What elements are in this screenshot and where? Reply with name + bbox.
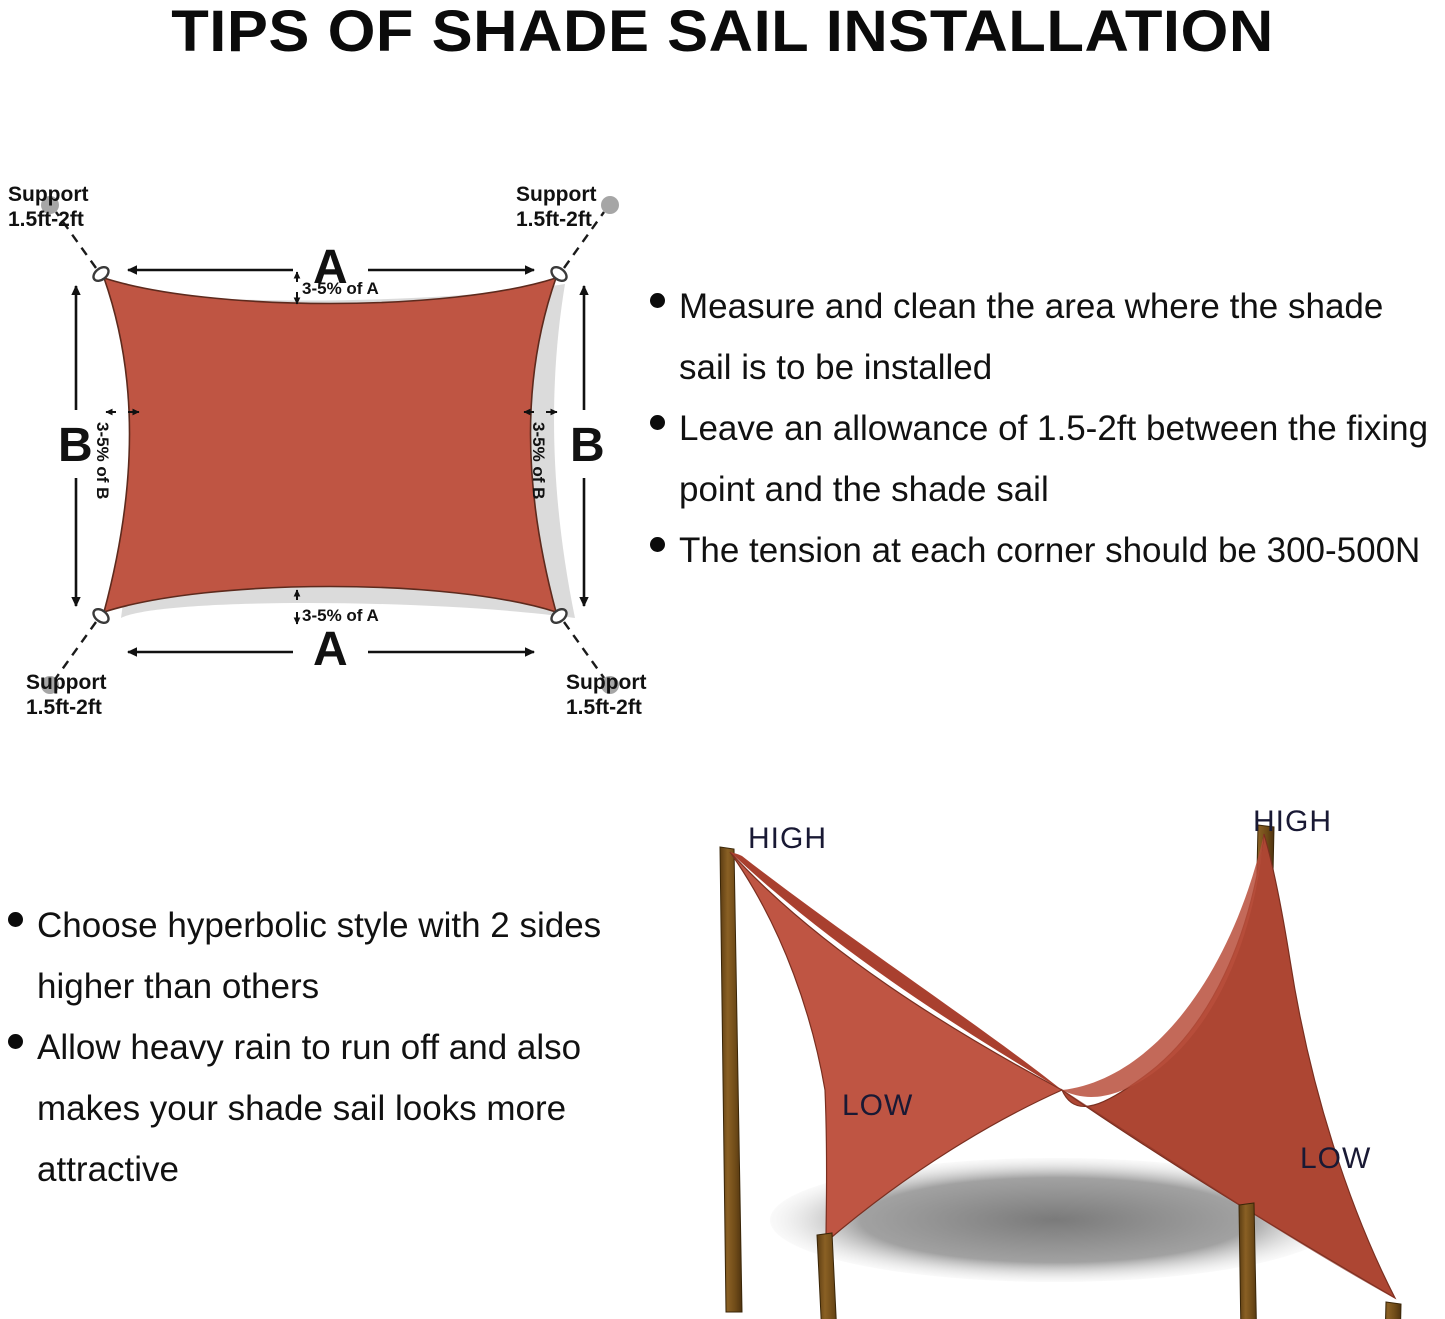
tip-text: Allow heavy rain to run off and also mak… bbox=[37, 1017, 607, 1200]
tips-list-right: Measure and clean the area where the sha… bbox=[650, 276, 1445, 581]
bullet-dot-icon bbox=[650, 415, 665, 430]
bullet-dot-icon bbox=[8, 912, 23, 927]
bullet-dot-icon bbox=[8, 1034, 23, 1049]
infographic-page: TIPS OF SHADE SAIL INSTALLATION bbox=[0, 0, 1445, 1319]
tip-text: Measure and clean the area where the sha… bbox=[679, 276, 1439, 398]
curvature-label-bottom: 3-5% of A bbox=[302, 606, 379, 626]
list-item: The tension at each corner should be 300… bbox=[650, 520, 1445, 581]
bullet-dot-icon bbox=[650, 293, 665, 308]
list-item: Allow heavy rain to run off and also mak… bbox=[8, 1017, 628, 1200]
tip-text: Leave an allowance of 1.5-2ft between th… bbox=[679, 398, 1439, 520]
support-label-top-right: Support 1.5ft-2ft bbox=[516, 182, 616, 232]
list-item: Leave an allowance of 1.5-2ft between th… bbox=[650, 398, 1445, 520]
post-label-low-right: LOW bbox=[1300, 1142, 1371, 1176]
post-far-right-low bbox=[1381, 1302, 1401, 1319]
bullet-dot-icon bbox=[650, 537, 665, 552]
curvature-label-top: 3-5% of A bbox=[302, 279, 379, 299]
curvature-label-right: 3-5% of B bbox=[528, 422, 548, 499]
support-label-bottom-left: Support 1.5ft-2ft bbox=[26, 670, 126, 720]
rect-sail-fabric bbox=[104, 278, 556, 612]
list-item: Measure and clean the area where the sha… bbox=[650, 276, 1445, 398]
hyperbolic-sail-svg bbox=[650, 790, 1445, 1319]
tip-text: Choose hyperbolic style with 2 sides hig… bbox=[37, 895, 607, 1017]
tip-text: The tension at each corner should be 300… bbox=[679, 520, 1439, 581]
post-label-low-left: LOW bbox=[842, 1089, 913, 1123]
support-label-bottom-right: Support 1.5ft-2ft bbox=[566, 670, 666, 720]
post-label-high-left: HIGH bbox=[748, 822, 827, 856]
support-label-top-left: Support 1.5ft-2ft bbox=[8, 182, 102, 232]
curvature-label-left: 3-5% of B bbox=[92, 422, 112, 499]
dimension-label-a-bottom: A bbox=[313, 622, 348, 677]
list-item: Choose hyperbolic style with 2 sides hig… bbox=[8, 895, 628, 1017]
tips-list-left: Choose hyperbolic style with 2 sides hig… bbox=[8, 895, 628, 1200]
post-back-left bbox=[720, 847, 742, 1312]
dimension-label-b-right: B bbox=[570, 418, 605, 473]
post-label-high-right: HIGH bbox=[1253, 805, 1332, 839]
page-title: TIPS OF SHADE SAIL INSTALLATION bbox=[0, 0, 1445, 65]
dimension-label-b-left: B bbox=[58, 418, 93, 473]
